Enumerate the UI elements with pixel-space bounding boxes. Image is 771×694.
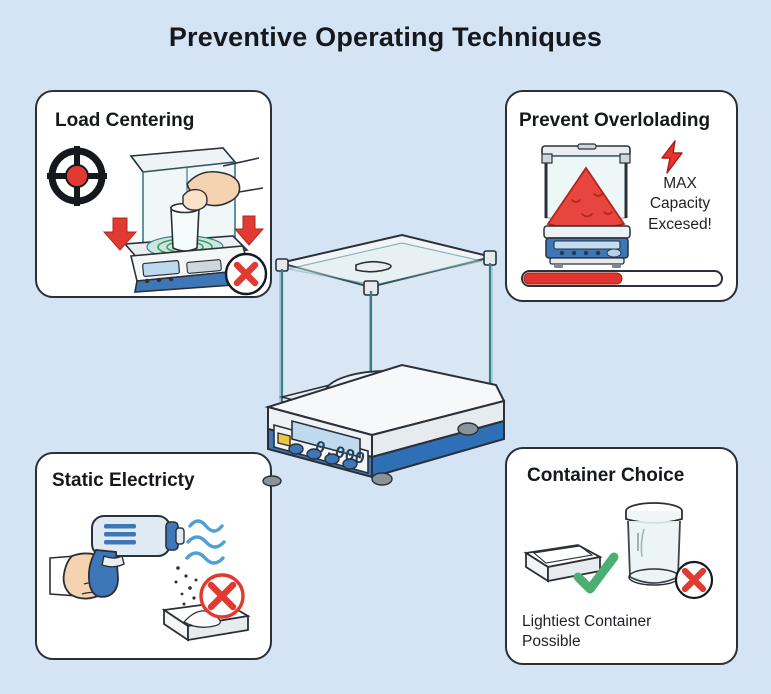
overload-bar-icon xyxy=(520,268,725,290)
overload-bar-fill xyxy=(524,273,622,284)
card-title-static-electricity: Static Electricty xyxy=(52,470,195,492)
container-caption-line-2: Possible xyxy=(522,632,712,652)
balance-foot xyxy=(372,473,392,485)
container-caption-line-1: Lightiest Container xyxy=(522,612,712,632)
card-title-load-centering: Load Centering xyxy=(55,110,194,132)
powder-particles xyxy=(175,566,198,605)
tare-button xyxy=(278,433,290,446)
overload-note-line-1: MAX xyxy=(630,174,730,194)
weighing-boat-icon xyxy=(526,545,600,581)
balance-foot xyxy=(263,476,281,486)
balance-display xyxy=(143,260,180,276)
control-button xyxy=(343,459,357,469)
control-button xyxy=(325,454,339,464)
card-title-container-choice: Container Choice xyxy=(527,465,684,487)
container-choice-caption: Lightiest Container Possible xyxy=(522,612,712,652)
overload-note-line-2: Capacity xyxy=(630,194,730,214)
crosshair-target-icon xyxy=(47,146,107,206)
overload-note: MAX Capacity Excesed! xyxy=(630,174,730,235)
static-wave-icon xyxy=(187,521,224,563)
central-analytical-balance: 0.000 xyxy=(252,225,522,500)
balance-foot xyxy=(458,423,478,435)
control-button xyxy=(307,449,321,459)
card-title-prevent-overloading: Prevent Overlolading xyxy=(519,110,710,132)
page-title: Preventive Operating Techniques xyxy=(0,22,771,53)
infographic-poster: Preventive Operating Techniques Load Cen… xyxy=(0,0,771,694)
lightning-bolt-icon xyxy=(655,140,689,174)
control-button xyxy=(289,444,303,454)
overload-note-line-3: Excesed! xyxy=(630,215,730,235)
red-x-circle-icon-static xyxy=(196,570,248,622)
balance-display xyxy=(554,241,620,249)
red-x-circle-icon-container xyxy=(672,558,716,602)
